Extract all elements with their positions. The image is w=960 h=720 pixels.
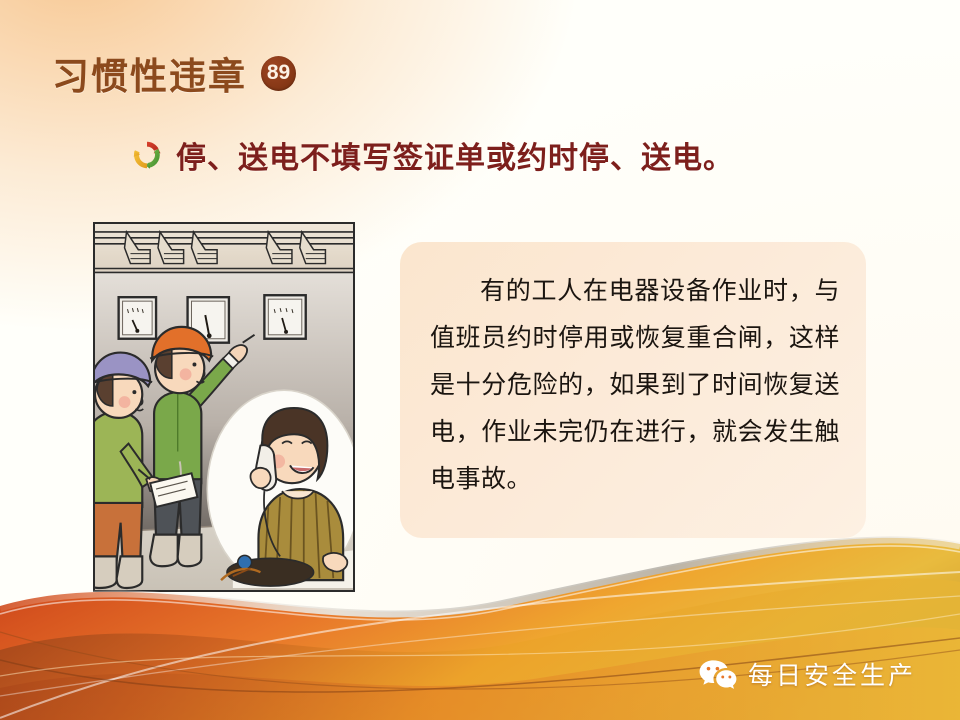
status-badge: 89 [261,56,296,91]
wechat-icon [699,659,737,689]
subtitle-row: 停、送电不填写签证单或约时停、送电。 [132,133,734,177]
slide-canvas: 习惯性违章 89 [0,0,960,720]
illustration-image [93,222,355,592]
body-text: 有的工人在电器设备作业时，与值班员约时停用或恢复重合闸，这样是十分危险的，如果到… [430,268,840,503]
recycle-arrows-icon [132,140,162,170]
watermark-label: 每日安全生产 [748,656,916,692]
subtitle-text: 停、送电不填写签证单或约时停、送电。 [176,133,734,177]
description-panel: 有的工人在电器设备作业时，与值班员约时停用或恢复重合闸，这样是十分危险的，如果到… [400,242,866,538]
page-title: 习惯性违章 [52,46,247,100]
illustration-svg [95,224,353,590]
header-title-row: 习惯性违章 89 [52,46,296,100]
watermark: 每日安全生产 [699,656,916,692]
